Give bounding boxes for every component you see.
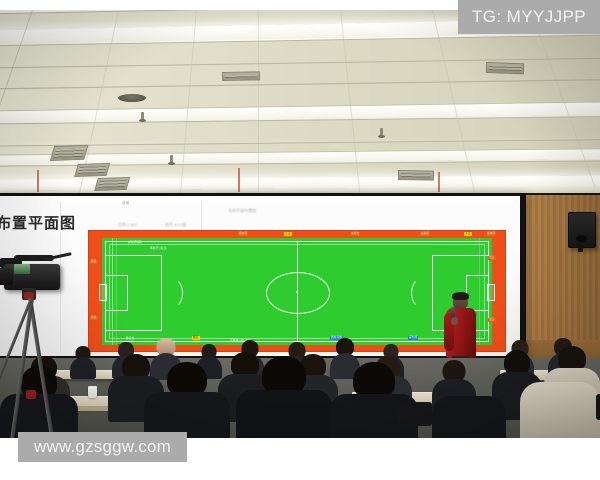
dimension-line [479,238,480,345]
cad-annotation: 场地尺寸标注 [150,248,167,251]
centre-circle [266,272,330,314]
screenshot-canvas: 布置平面图 场地平面布置图 比例 1:500 图号 A-01级 说明 图例 [0,0,600,480]
sprinkler-head-icon [380,128,383,136]
hvac-vent-icon [222,71,260,81]
audience-member-foreground [144,362,230,438]
torso [432,396,506,438]
sprinkler-head-icon [170,155,173,163]
penalty-arc-right [411,277,436,309]
penalty-arc-left [158,277,183,309]
goal-right [487,284,495,301]
watermark-bottom-left: www.gzsggw.com [18,432,187,462]
sprinkler-pipe [37,170,39,192]
torso [236,390,332,438]
cad-annotation: 裁判席 [408,336,418,340]
sprinkler-head-icon [141,112,144,120]
chair-back [398,402,432,426]
sprinkler-pipe [438,172,440,192]
slide-frame-note-1: 说明 [122,200,129,205]
cad-annotation: 入口 [464,232,472,236]
hvac-vent-icon [74,163,110,177]
ceiling-grid-seam [258,10,259,196]
cad-annotation: 检录处 [126,338,134,341]
torso [520,382,600,438]
hvac-vent-icon [398,170,434,181]
slide-header-note: 场地平面布置图 [228,208,256,214]
audience-member-foreground [432,396,506,438]
hvac-vent-icon [94,177,130,191]
speaker-bracket [578,245,583,252]
cad-annotation: 标准足球场 [128,242,142,245]
dimension-line [112,238,113,345]
pitch-surface [102,238,492,345]
cad-annotation: 通道 [90,316,98,320]
slide-title: 布置平面图 [0,212,76,233]
slide-meta-right: 图号 A-01级 [165,222,187,228]
audience-member-foreground [330,362,418,438]
cad-annotation: 通道 [90,260,98,264]
cad-annotation: 媒体区 [486,232,496,236]
cad-annotation: 设备区 [420,232,430,236]
hvac-vent-icon [50,145,89,161]
wall-speaker-icon [568,212,596,248]
camera-monitor-screen [14,264,30,274]
cad-annotation: 入口 [284,232,292,236]
slide-meta-left: 比例 1:500 [118,222,137,228]
paper-cup [88,386,97,398]
photograph: 布置平面图 场地平面布置图 比例 1:500 图号 A-01级 说明 图例 [0,10,600,438]
cad-annotation: 主席台 [350,232,360,236]
cad-annotation: 终点 [192,336,200,340]
ceiling [0,10,600,196]
hvac-vent-icon [486,62,524,74]
audience-member-foreground-cream [520,382,600,438]
camera-lens-icon [0,268,13,285]
goal-left [99,284,107,301]
watermark-top-right: TG: MYYJJPP [458,0,600,34]
cad-annotation: 看台区 [238,232,248,236]
audience-member-foreground [236,356,332,438]
dimension-line [116,238,117,345]
tripod-spreader-collar [26,390,36,399]
chair-back [596,394,600,420]
sprinkler-pipe [238,168,240,192]
presenter-hair [452,292,469,300]
centre-spot [296,291,298,293]
ceiling-dome-fixture-icon [118,94,146,102]
cad-annotation: 出口 [488,318,496,322]
cad-annotation: 出口 [488,256,496,260]
presenter-hand [451,317,458,325]
